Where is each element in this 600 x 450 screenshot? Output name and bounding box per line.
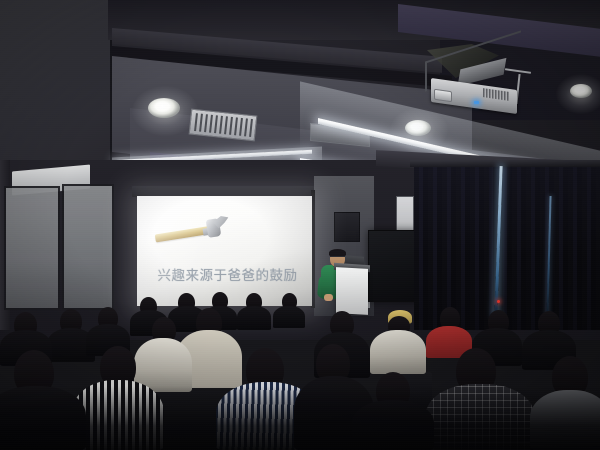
presentation-room-photo: 兴趣来源于爸爸的鼓励 [0,0,600,450]
ceiling-projector [425,44,565,134]
lectern [336,267,368,315]
slide-title-text: 兴趣来源于爸爸的鼓励 [150,264,305,284]
equipment-status-led-icon [497,300,500,303]
presenter-hand [324,294,333,301]
attendee-with-cap [370,330,426,374]
list-item [352,400,434,450]
projector-power-led-icon[interactable] [474,101,479,104]
wall-speaker [334,212,360,242]
screen-vignette [137,196,312,306]
recessed-downlight-4 [570,84,592,98]
list-item [237,306,271,330]
screen-sheen [137,196,312,306]
projection-screen: 兴趣来源于爸爸的鼓励 [137,196,312,306]
curtain-rail [410,160,600,167]
projector-lens-icon [434,89,452,103]
ceiling-left-soffit [0,0,112,172]
attendee-plaid-shirt [426,384,534,450]
hammer-icon [155,216,233,246]
blackout-curtain-shading [414,162,600,330]
glasses-icon [330,256,345,259]
wall-panel-left-a [4,186,60,310]
list-item [273,306,305,328]
recessed-downlight-1 [148,98,180,118]
wall-panel-left-b [62,184,114,310]
flat-panel-display [368,230,420,302]
list-item [0,386,86,450]
list-item [530,390,600,450]
